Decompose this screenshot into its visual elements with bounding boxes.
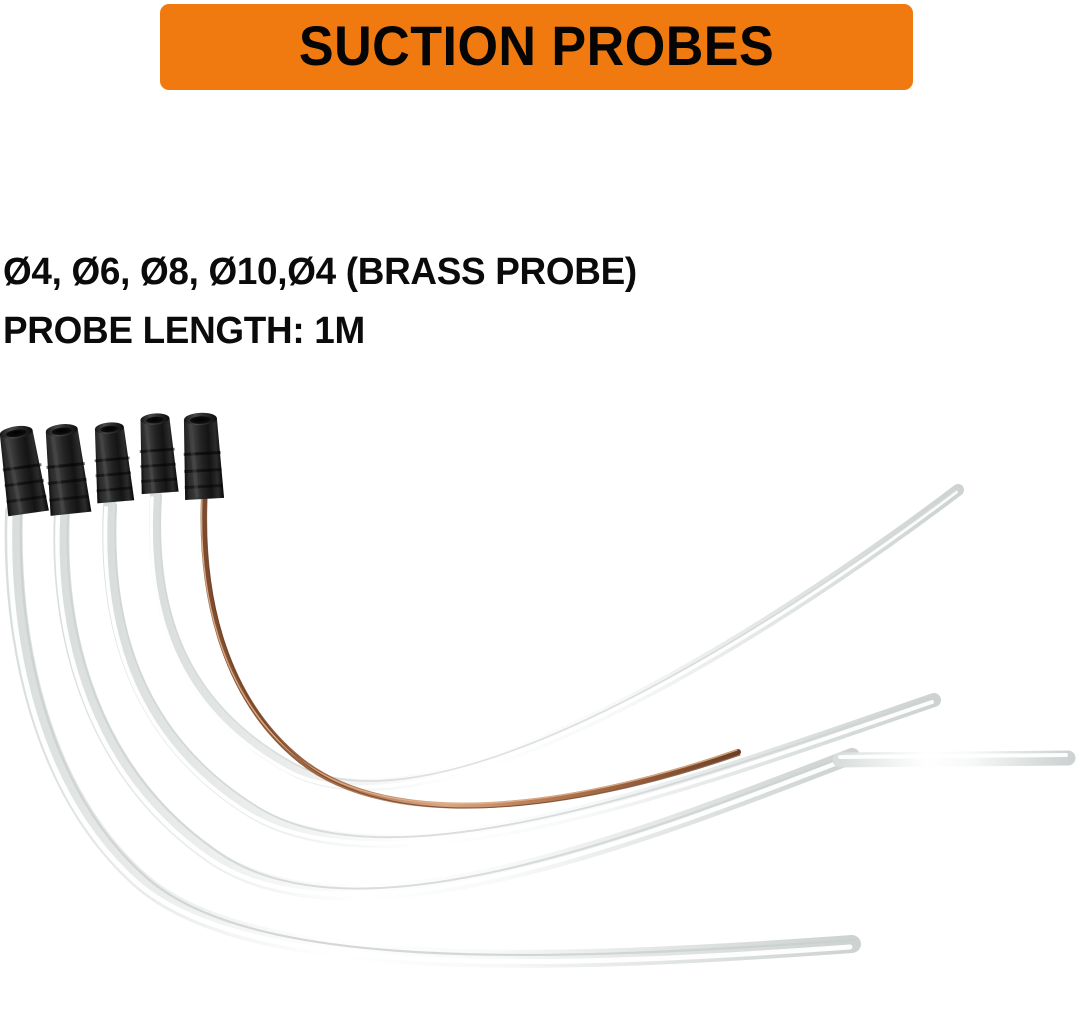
spec-length-line: PROBE LENGTH: 1M <box>3 302 740 361</box>
spec-diameters-line: Ø4, Ø6, Ø8, Ø10,Ø4 (BRASS PROBE) <box>3 243 740 302</box>
probe-handle-5 <box>181 412 224 500</box>
probe-tube-3 <box>105 505 938 843</box>
probe-handle-3 <box>90 421 134 504</box>
probe-handle-1 <box>0 423 49 516</box>
product-photo <box>0 0 1080 1018</box>
product-image-canvas: SUCTION PROBES Ø4, Ø6, Ø8, Ø10,Ø4 (BRASS… <box>0 0 1080 1018</box>
title-banner: SUCTION PROBES <box>160 4 913 90</box>
probe-handle-4 <box>136 412 178 494</box>
probe-tube-2 <box>57 511 856 895</box>
probe-handle-2 <box>41 422 91 516</box>
probe-tube-1 <box>10 512 854 962</box>
specification-block: Ø4, Ø6, Ø8, Ø10,Ø4 (BRASS PROBE) PROBE L… <box>3 243 763 361</box>
probe-tube-5-brass <box>202 498 740 808</box>
probe-tube-4 <box>151 486 962 787</box>
page-title: SUCTION PROBES <box>299 18 774 77</box>
probe-tube-2-tail <box>840 755 1068 760</box>
product-illustration <box>0 0 1080 1018</box>
